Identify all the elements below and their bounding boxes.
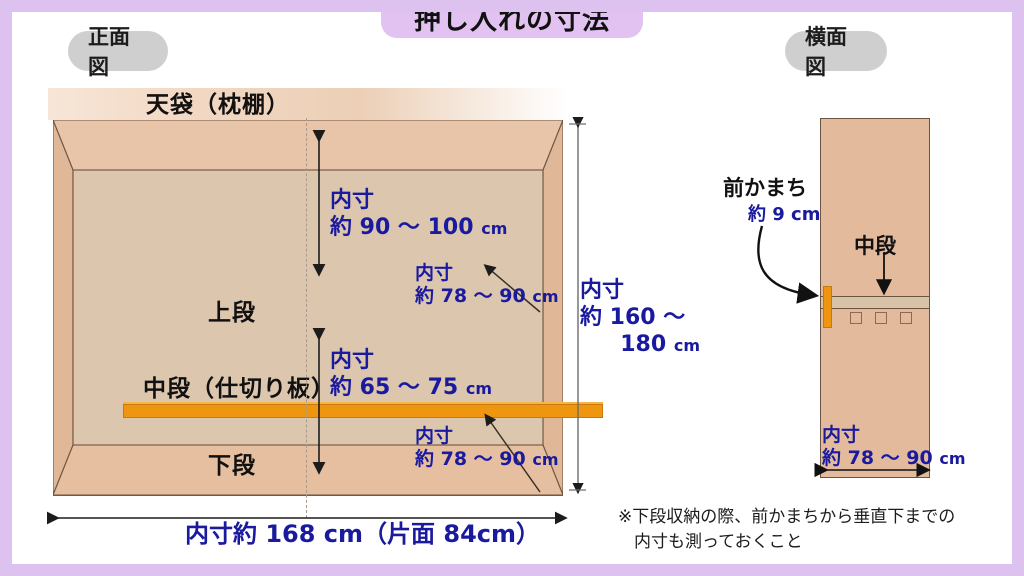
side-middle-shelf [821,296,929,309]
shelf-support-square [900,312,912,324]
total-width-dimension: 内寸約 168 cm（片面 84cm） [185,520,540,549]
lower-depth-unit: cm [532,450,558,469]
front-view-badge: 正面図 [68,31,168,71]
shelf-support-square [875,312,887,324]
upper-dim-line2: 約 90 ～ 100 [330,215,474,240]
lower-dim-unit: cm [466,379,492,398]
shelf-support-square [850,312,862,324]
lower-section-label: 下段 [208,446,256,480]
lower-dim-line1: 内寸 [330,348,492,375]
upper-depth-dimension: 内寸 約 78 ～ 90 cm [415,262,559,308]
kamachi-dimension: 約 9 cm [748,200,820,226]
lower-section-dimension: 内寸 約 65 ～ 75 cm [330,348,492,402]
upper-section-label: 上段 [208,293,256,327]
footnote: ※下段収納の際、前かまちから垂直下までの 内寸も測っておくこと [618,505,1008,554]
page-title-text: 押し入れの寸法 [414,0,610,37]
kamachi-bar [823,286,832,328]
top-compartment-label: 天袋（枕棚） [48,86,388,118]
footnote-line2: 内寸も測っておくこと [618,530,1008,555]
total-height-unit: cm [674,336,700,355]
page-title: 押し入れの寸法 [381,0,643,38]
upper-dim-line1: 内寸 [330,188,507,215]
total-height-line3: 180 [620,332,666,357]
upper-depth-line1: 内寸 [415,262,559,285]
footnote-line1: ※下段収納の際、前かまちから垂直下までの [618,505,1008,530]
side-middle-label: 中段 [854,230,896,260]
upper-depth-line2: 約 78 ～ 90 [415,285,526,307]
side-depth-line1: 内寸 [822,424,966,447]
lower-depth-line2: 約 78 ～ 90 [415,448,526,470]
upper-section-dimension: 内寸 約 90 ～ 100 cm [330,188,507,242]
side-depth-dimension: 内寸 約 78 ～ 90 cm [822,424,966,470]
side-depth-unit: cm [939,449,965,468]
lower-depth-line1: 内寸 [415,425,559,448]
side-view-badge-label: 横面図 [805,21,867,81]
side-depth-line2: 約 78 ～ 90 [822,447,933,469]
total-height-line2: 約 160 ～ [580,305,700,332]
upper-depth-unit: cm [532,287,558,306]
kamachi-label: 前かまち [723,172,807,202]
lower-dim-line2: 約 65 ～ 75 [330,375,458,400]
total-height-dimension: 内寸 約 160 ～ 180 cm [580,278,700,358]
upper-dim-unit: cm [481,219,507,238]
side-view-badge: 横面図 [785,31,887,71]
lower-depth-dimension: 内寸 約 78 ～ 90 cm [415,425,559,471]
diagram-canvas: 押し入れの寸法 正面図 横面図 天袋（枕棚） 上段 中段（仕切り板） 下段 [0,0,1024,576]
middle-shelf [123,404,603,418]
total-height-line1: 内寸 [580,278,700,305]
center-dashed-line [306,118,307,518]
front-view-badge-label: 正面図 [88,21,148,81]
